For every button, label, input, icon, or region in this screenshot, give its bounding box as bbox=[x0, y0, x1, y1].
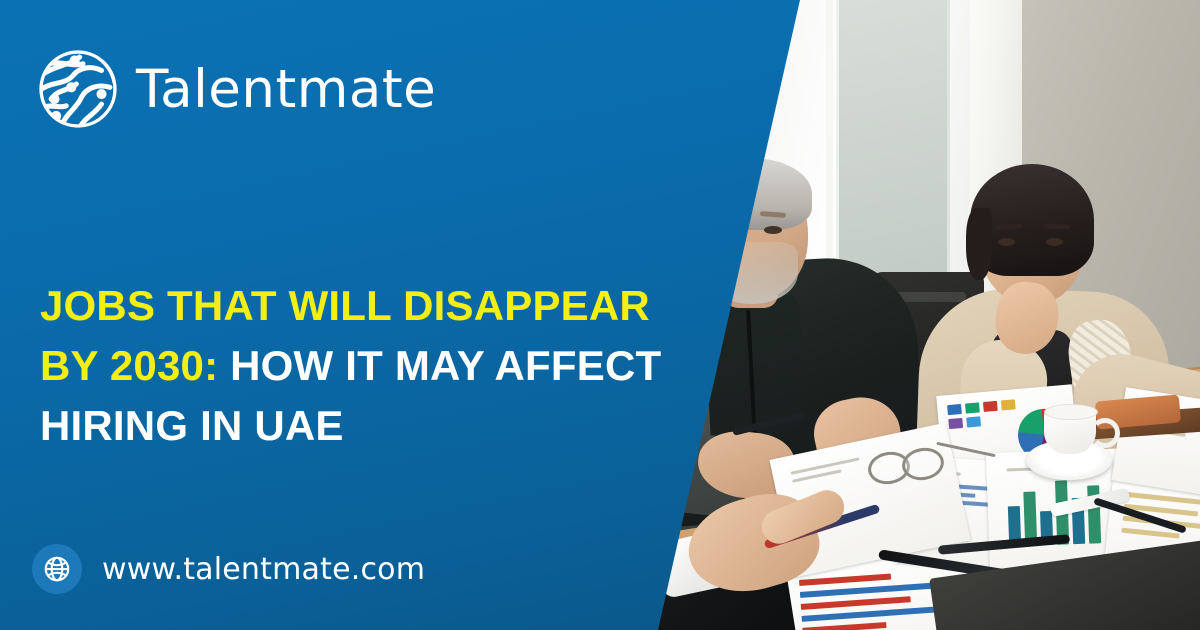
brand-name: Talentmate bbox=[136, 63, 436, 116]
website-url[interactable]: www.talentmate.com bbox=[102, 552, 425, 587]
banner-content: Talentmate JOBS THAT WILL DISAPPEAR BY 2… bbox=[0, 0, 700, 630]
talentmate-globe-logo-icon bbox=[36, 47, 120, 131]
coffee-cup-rim bbox=[1044, 404, 1098, 420]
headline-line-2-highlight: BY 2030: bbox=[40, 342, 218, 389]
woman-eye-left bbox=[998, 238, 1015, 246]
coffee-cup-handle bbox=[1090, 418, 1120, 448]
brand-lockup[interactable]: Talentmate bbox=[36, 47, 436, 131]
website-footer[interactable]: www.talentmate.com bbox=[32, 544, 425, 594]
woman-hair-side bbox=[966, 208, 992, 280]
social-share-banner: Talentmate JOBS THAT WILL DISAPPEAR BY 2… bbox=[0, 0, 1200, 630]
headline-line-2: HOW IT MAY AFFECT bbox=[230, 342, 661, 389]
page-title: JOBS THAT WILL DISAPPEAR BY 2030: HOW IT… bbox=[40, 276, 730, 456]
headline-line-3: HIRING IN UAE bbox=[40, 402, 344, 449]
man-eye-right bbox=[764, 226, 782, 234]
headline-line-1: JOBS THAT WILL DISAPPEAR bbox=[40, 282, 650, 329]
globe-icon bbox=[32, 544, 82, 594]
woman-eye-right bbox=[1046, 238, 1063, 246]
